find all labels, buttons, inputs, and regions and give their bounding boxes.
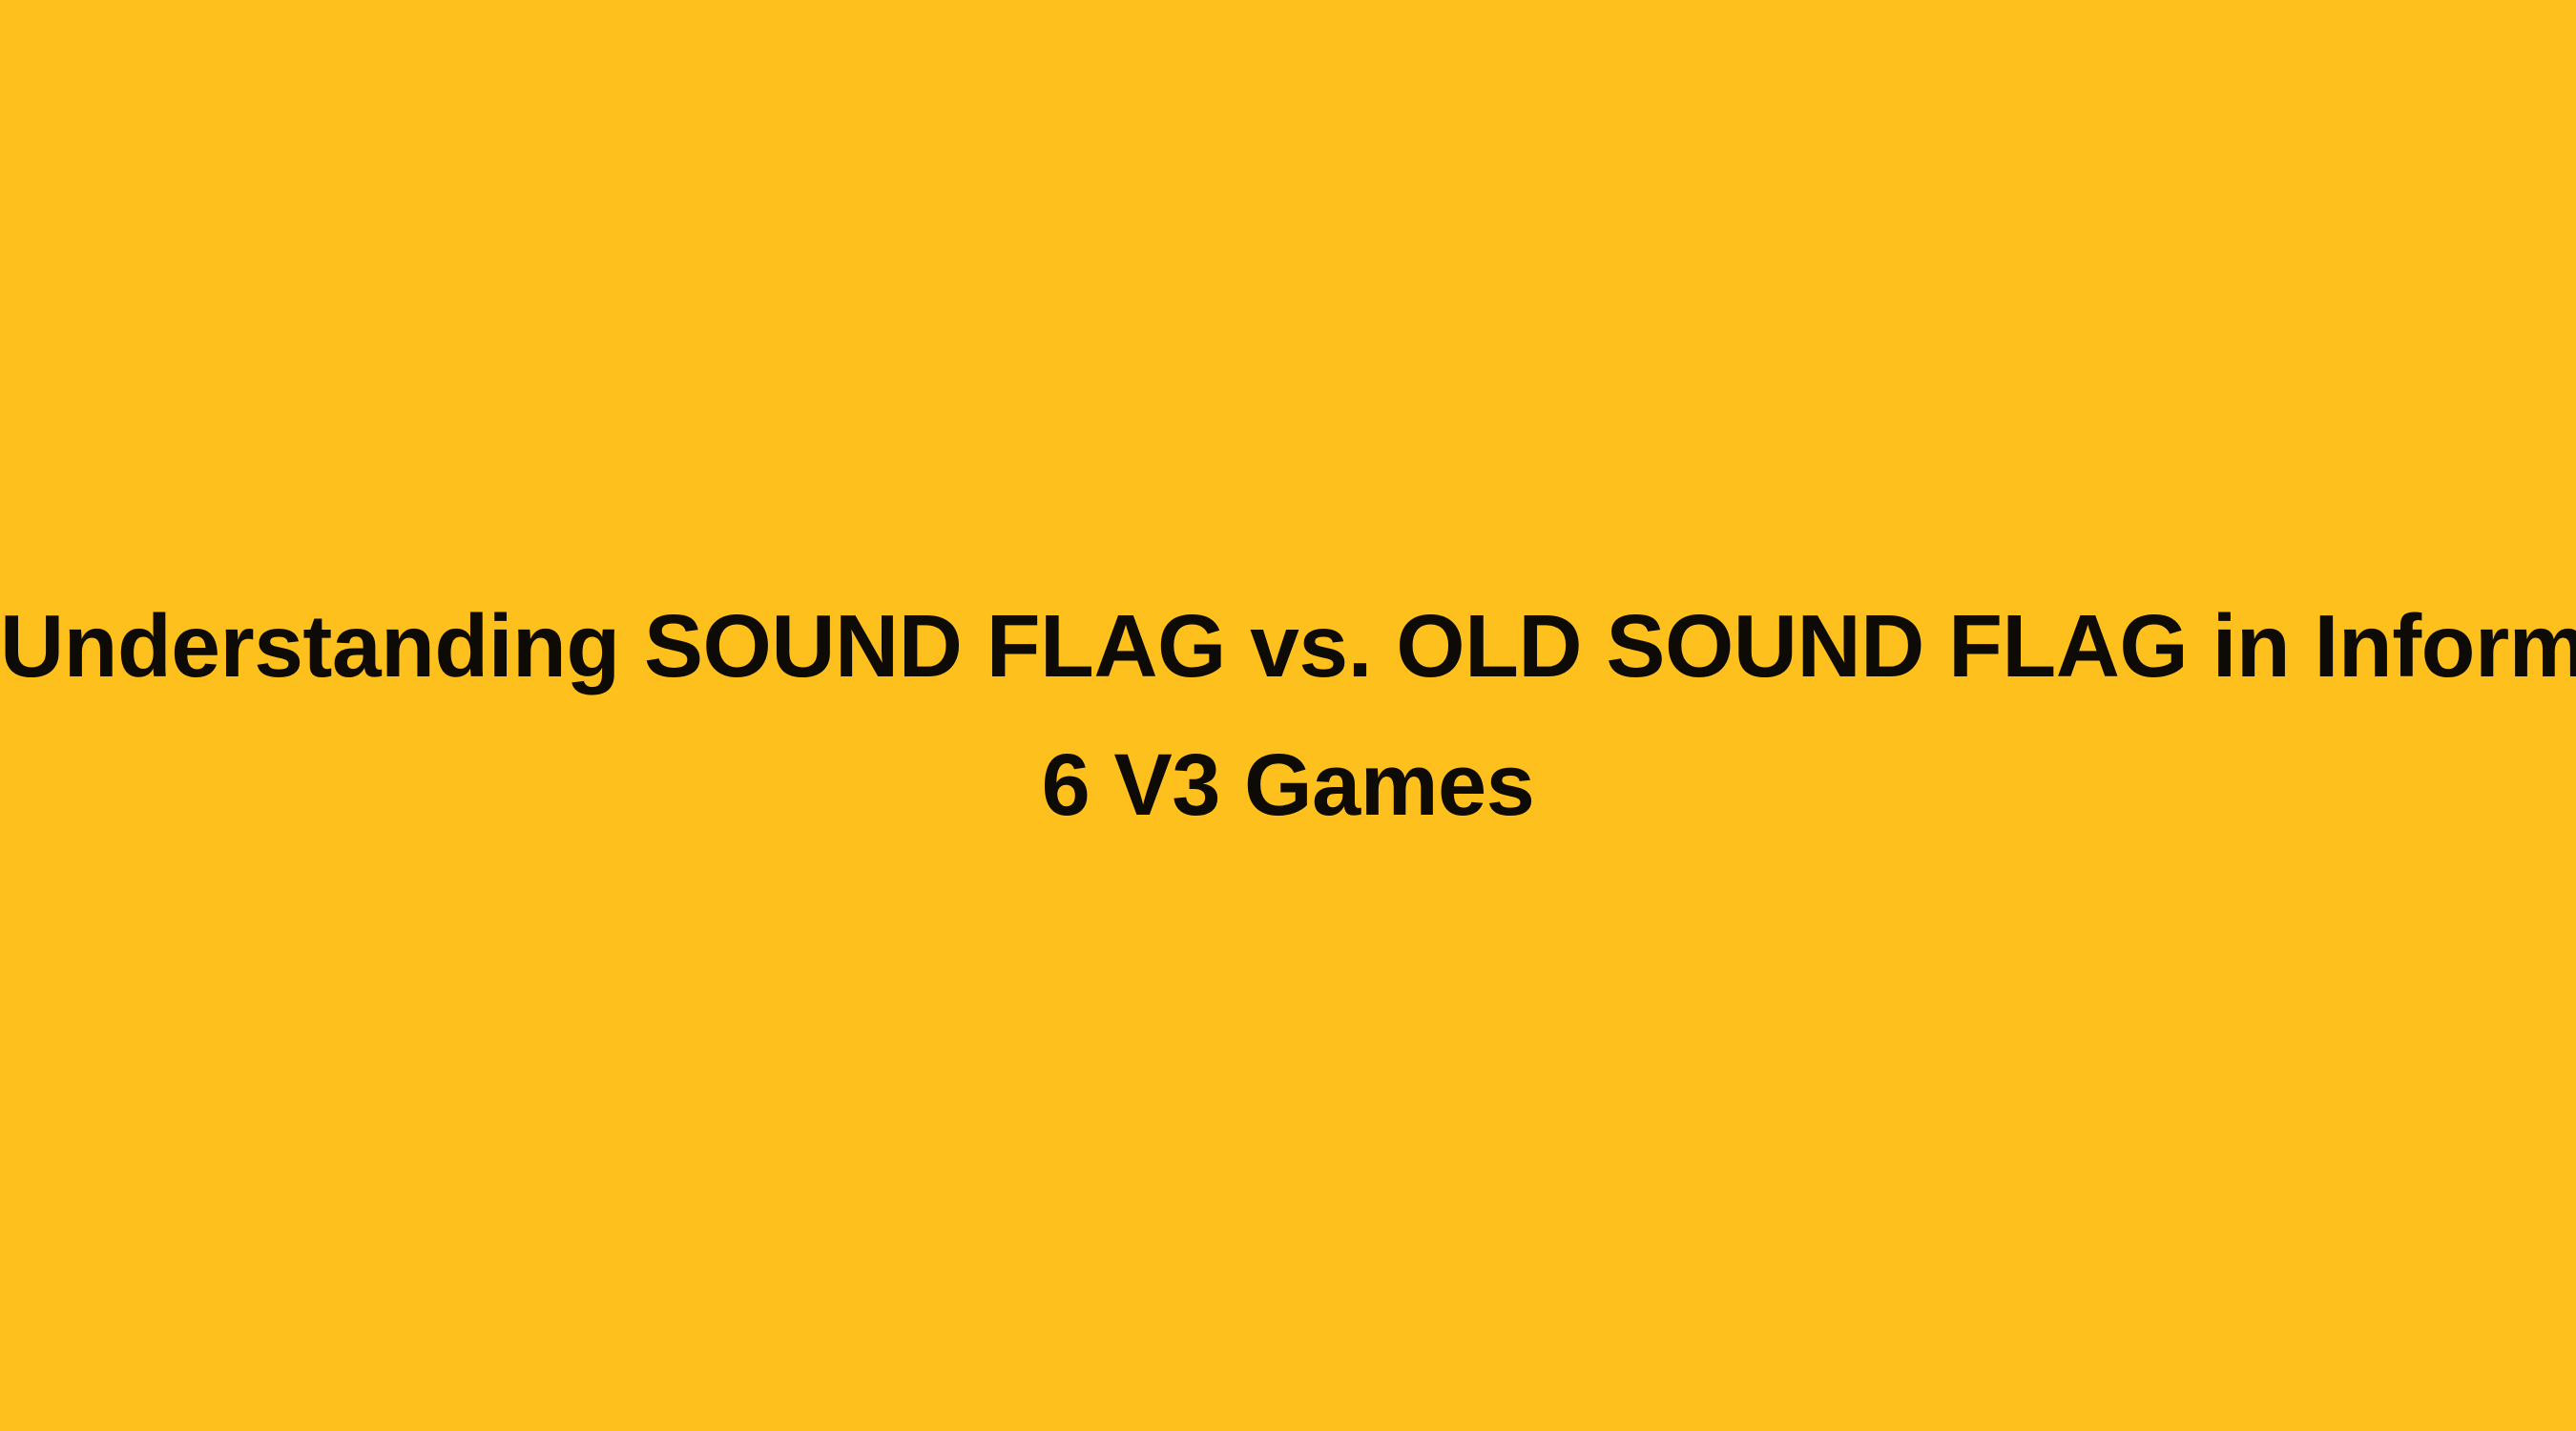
title-card: Understanding SOUND FLAG vs. OLD SOUND F…	[0, 0, 2576, 1431]
page-title-line-2: 6 V3 Games	[0, 729, 2576, 841]
page-title-line-1: Understanding SOUND FLAG vs. OLD SOUND F…	[0, 590, 2576, 702]
page-title: Understanding SOUND FLAG vs. OLD SOUND F…	[0, 590, 2576, 841]
